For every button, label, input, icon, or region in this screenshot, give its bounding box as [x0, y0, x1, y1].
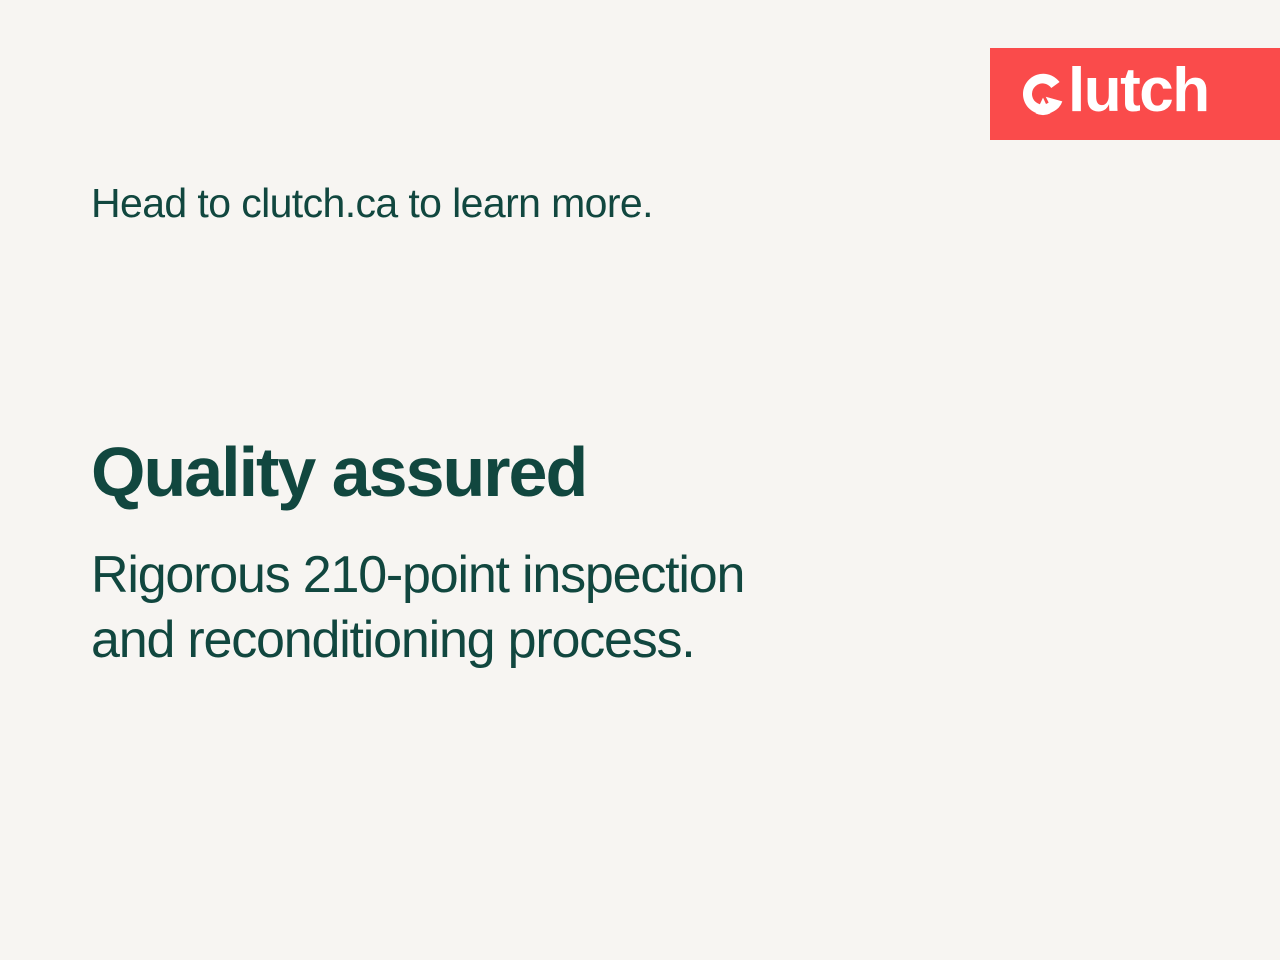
clutch-wordmark-text: lutch — [1068, 63, 1209, 119]
brand-banner: lutch — [990, 48, 1280, 140]
subcopy-line-2: and reconditioning process. — [91, 608, 744, 673]
eyebrow-text: Head to clutch.ca to learn more. — [91, 180, 653, 227]
subcopy-text: Rigorous 210-point inspection and recond… — [91, 543, 744, 673]
clutch-wordmark: lutch — [1020, 65, 1209, 123]
page-title: Quality assured — [91, 436, 586, 510]
slide-canvas: lutch Head to clutch.ca to learn more. Q… — [0, 0, 1280, 960]
subcopy-line-1: Rigorous 210-point inspection — [91, 543, 744, 608]
clutch-c-mark-icon — [1020, 71, 1066, 117]
